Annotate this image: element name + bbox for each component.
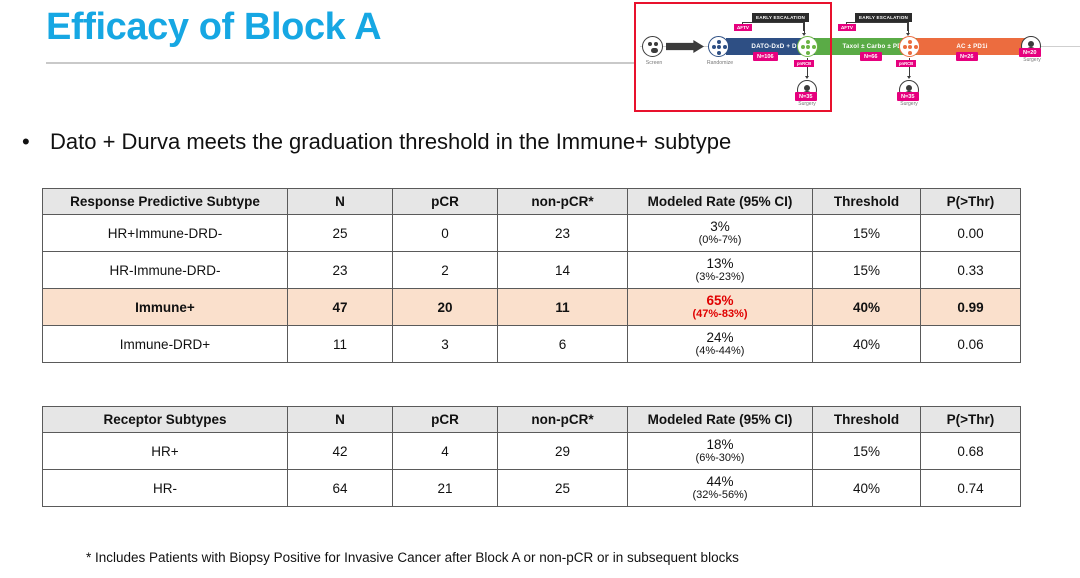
escalation-label-1: EARLY ESCALATION — [752, 13, 809, 22]
rate-ci: (47%-83%) — [628, 308, 812, 321]
rate-ci: (0%-7%) — [628, 234, 812, 247]
cell-n: 23 — [288, 252, 393, 289]
cell-n: 11 — [288, 326, 393, 363]
rate-ci: (32%-56%) — [628, 489, 812, 502]
cell-pcr: 4 — [393, 433, 498, 470]
table-row: HR- 64 21 25 44% (32%-56%) 40% 0.74 — [43, 470, 1021, 507]
title-underline-divider — [46, 62, 636, 64]
cell-threshold: 15% — [813, 433, 921, 470]
col-header-threshold: Threshold — [813, 407, 921, 433]
col-header-non-pcr: non-pCR* — [498, 189, 628, 215]
col-header-subtype: Receptor Subtypes — [43, 407, 288, 433]
cell-pcr: 3 — [393, 326, 498, 363]
slide-canvas: Efficacy of Block A Screen Randomize — [0, 0, 1080, 578]
cell-rate: 44% (32%-56%) — [628, 470, 813, 507]
cell-rate: 65% (47%-83%) — [628, 289, 813, 326]
cell-subtype: Immune+ — [43, 289, 288, 326]
cell-rate: 18% (6%-30%) — [628, 433, 813, 470]
table-row: HR-Immune-DRD- 23 2 14 13% (3%-23%) 15% … — [43, 252, 1021, 289]
surgery-label-2: Surgery — [890, 101, 928, 107]
table-header-row: Receptor Subtypes N pCR non-pCR* Modeled… — [43, 407, 1021, 433]
rate-ci: (3%-23%) — [628, 271, 812, 284]
cell-pthr: 0.99 — [921, 289, 1021, 326]
cell-non-pcr: 11 — [498, 289, 628, 326]
cell-non-pcr: 23 — [498, 215, 628, 252]
cell-threshold: 15% — [813, 215, 921, 252]
cell-rate: 24% (4%-44%) — [628, 326, 813, 363]
rate-value: 24% — [628, 330, 812, 345]
col-header-pthr: P(>Thr) — [921, 407, 1021, 433]
cell-non-pcr: 14 — [498, 252, 628, 289]
surgery-n-2: N=35 — [897, 92, 919, 101]
surgery-arrowhead-2 — [907, 76, 911, 79]
trial-schema-diagram: Screen Randomize DATO-DxD + Durva N=106 … — [634, 2, 1080, 114]
cell-pthr: 0.00 — [921, 215, 1021, 252]
rate-value: 44% — [628, 474, 812, 489]
cell-non-pcr: 6 — [498, 326, 628, 363]
table-header-row: Response Predictive Subtype N pCR non-pC… — [43, 189, 1021, 215]
cell-threshold: 40% — [813, 470, 921, 507]
table-row-highlighted: Immune+ 47 20 11 65% (47%-83%) 40% 0.99 — [43, 289, 1021, 326]
cell-rate: 13% (3%-23%) — [628, 252, 813, 289]
cell-pthr: 0.06 — [921, 326, 1021, 363]
surgery-n-1: N=35 — [795, 92, 817, 101]
cell-pthr: 0.33 — [921, 252, 1021, 289]
footnote-text: * Includes Patients with Biopsy Positive… — [86, 550, 986, 565]
col-header-rate: Modeled Rate (95% CI) — [628, 407, 813, 433]
receptor-subtypes-table: Receptor Subtypes N pCR non-pCR* Modeled… — [42, 406, 1021, 507]
pcr-tag-1: pnRCB — [794, 60, 814, 67]
cell-non-pcr: 29 — [498, 433, 628, 470]
cell-subtype: Immune-DRD+ — [43, 326, 288, 363]
assessment-node-2-icon — [899, 36, 920, 57]
cell-threshold: 40% — [813, 289, 921, 326]
col-header-pcr: pCR — [393, 407, 498, 433]
col-header-pthr: P(>Thr) — [921, 189, 1021, 215]
col-header-n: N — [288, 189, 393, 215]
rate-value: 13% — [628, 256, 812, 271]
cell-threshold: 15% — [813, 252, 921, 289]
cell-pcr: 2 — [393, 252, 498, 289]
rate-value: 3% — [628, 219, 812, 234]
bullet-text: Dato + Durva meets the graduation thresh… — [50, 128, 731, 156]
surgery-label-3: Surgery — [1013, 57, 1051, 63]
cell-n: 42 — [288, 433, 393, 470]
cell-pthr: 0.74 — [921, 470, 1021, 507]
col-header-pcr: pCR — [393, 189, 498, 215]
cell-subtype: HR+ — [43, 433, 288, 470]
col-header-rate: Modeled Rate (95% CI) — [628, 189, 813, 215]
col-header-non-pcr: non-pCR* — [498, 407, 628, 433]
cell-subtype: HR- — [43, 470, 288, 507]
col-header-threshold: Threshold — [813, 189, 921, 215]
pcr-tag-2: pnRCB — [896, 60, 916, 67]
cell-n: 25 — [288, 215, 393, 252]
cell-rate: 3% (0%-7%) — [628, 215, 813, 252]
rate-ci: (4%-44%) — [628, 345, 812, 358]
arm-n-taxol-carbo: N=66 — [860, 52, 882, 61]
table-row: Immune-DRD+ 11 3 6 24% (4%-44%) 40% 0.06 — [43, 326, 1021, 363]
rate-value: 65% — [628, 293, 812, 308]
cell-pcr: 21 — [393, 470, 498, 507]
arm-n-ac-pd1i: N=26 — [956, 52, 978, 61]
page-title: Efficacy of Block A — [46, 8, 606, 48]
page-title-container: Efficacy of Block A — [46, 8, 606, 48]
rate-ci: (6%-30%) — [628, 452, 812, 465]
arm-n-dato-durva: N=106 — [753, 52, 778, 61]
ftv-tag-1: ΔFTV — [734, 24, 752, 31]
table-row: HR+ 42 4 29 18% (6%-30%) 15% 0.68 — [43, 433, 1021, 470]
col-header-n: N — [288, 407, 393, 433]
cell-n: 47 — [288, 289, 393, 326]
col-header-subtype: Response Predictive Subtype — [43, 189, 288, 215]
surgery-n-3: N=20 — [1019, 48, 1041, 57]
cell-subtype: HR+Immune-DRD- — [43, 215, 288, 252]
table-row: HR+Immune-DRD- 25 0 23 3% (0%-7%) 15% 0.… — [43, 215, 1021, 252]
cell-threshold: 40% — [813, 326, 921, 363]
cell-non-pcr: 25 — [498, 470, 628, 507]
cell-subtype: HR-Immune-DRD- — [43, 252, 288, 289]
cell-pcr: 20 — [393, 289, 498, 326]
response-predictive-subtype-table: Response Predictive Subtype N pCR non-pC… — [42, 188, 1021, 363]
cell-pthr: 0.68 — [921, 433, 1021, 470]
bullet-marker-icon: • — [22, 128, 50, 156]
cell-pcr: 0 — [393, 215, 498, 252]
rate-value: 18% — [628, 437, 812, 452]
escalation-label-2: EARLY ESCALATION — [855, 13, 912, 22]
ftv-tag-2: ΔFTV — [838, 24, 856, 31]
bullet-row: • Dato + Durva meets the graduation thre… — [22, 128, 1002, 156]
cell-n: 64 — [288, 470, 393, 507]
